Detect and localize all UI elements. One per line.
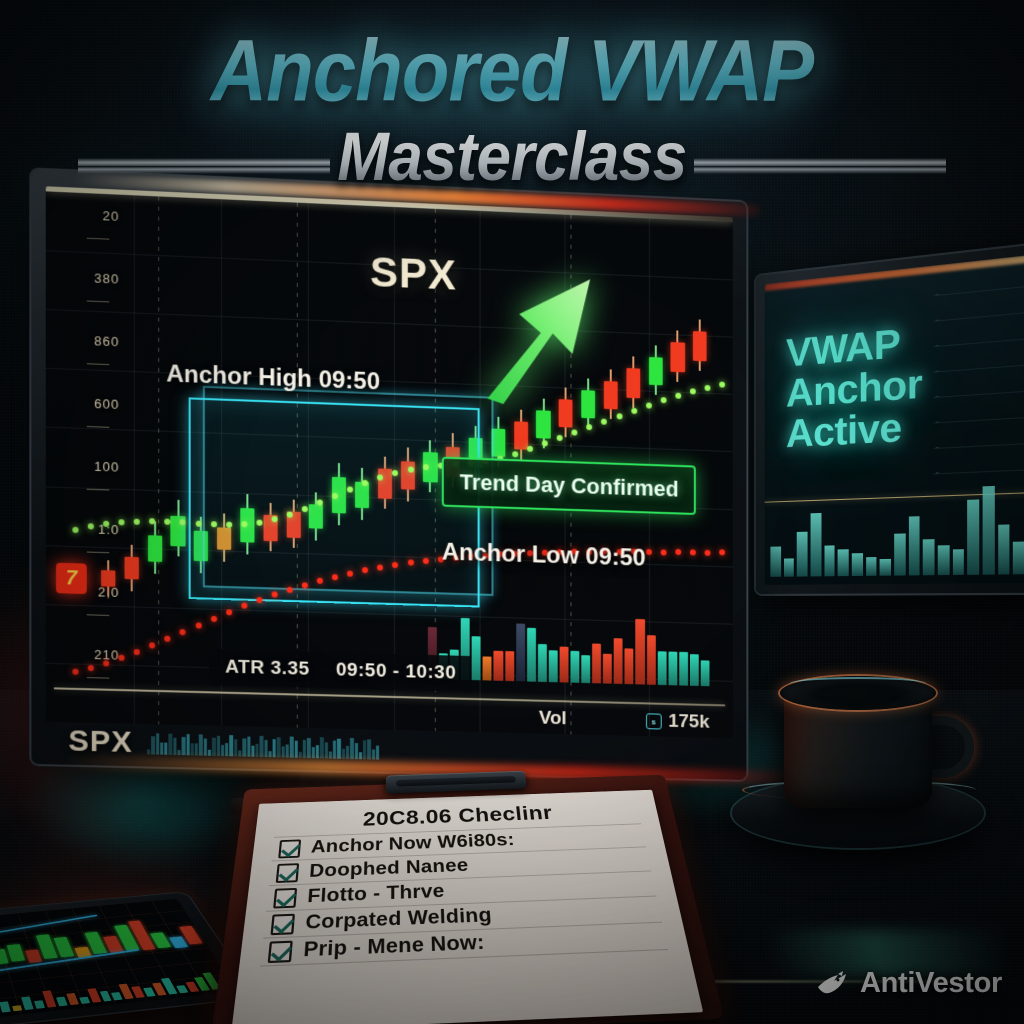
secondary-volume-bar [852,553,863,576]
secondary-axis-tick: -- [936,393,940,400]
candle-body [536,410,550,438]
sparkline-bar [212,738,215,756]
secondary-volume-bar [908,516,919,575]
secondary-axis-tick: -- [936,292,940,299]
volume-bar [516,623,525,681]
session-range: 09:50 - 10:30 [336,659,456,684]
sparkline-bar [204,738,207,755]
vwap-point [527,446,533,452]
volume-bar [483,656,492,680]
candle-body [604,381,618,409]
vwap-anchor-status-headline: VWAP Anchor Active [786,322,922,455]
checkbox-checked-icon[interactable] [273,888,297,909]
sparkline-bar [277,737,280,757]
sparkline-bar [160,743,163,755]
volume-bar [690,654,699,686]
tablet-volume-bar [99,991,112,1002]
primary-monitor-screen[interactable]: 203808606001001:02,0210 SPX [46,186,733,738]
checkbox-checked-icon[interactable] [268,941,293,963]
tablet-volume-bar [21,996,33,1010]
secondary-volume-bar [811,513,822,576]
status-line-3: Active [786,406,922,455]
sparkline-bar [225,744,228,757]
secondary-volume-bar [982,486,994,575]
secondary-volume-bar [938,545,950,575]
candlestick [148,196,162,724]
sparkline-bar [299,751,302,757]
sparkline-bar [182,737,185,755]
secondary-gridline [933,415,1024,423]
sparkline-bar [337,739,340,759]
sparkline-bar [268,751,271,757]
volume-readout: s 175k [646,710,710,733]
tablet-candle [0,949,8,965]
candlestick [101,194,115,723]
secondary-axis-tick: -- [936,419,940,426]
sparkline-bar [156,734,159,755]
vwap-point [719,382,725,388]
checkbox-checked-icon[interactable] [276,863,299,883]
coffee-mug [768,660,948,840]
sparkline-bar [290,737,293,758]
sparkline-bar [256,744,259,757]
volume-label: Vol [539,708,567,731]
anchor-low-point [211,616,217,622]
sparkline-bar [186,735,189,756]
volume-bar [625,648,634,684]
secondary-volume-bars [770,479,1024,577]
volume-value: 175k [668,711,709,734]
volume-bar [592,644,601,684]
secondary-volume-bar [894,533,905,575]
candle-body [101,570,115,587]
sparkline-bar [191,744,194,756]
sparkline-bar [234,739,237,756]
secondary-volume-bar [797,532,808,577]
tablet-volume-bar [0,1001,11,1012]
sparkline-bar [342,748,345,758]
volume-bar [679,652,688,686]
secondary-gridline [933,389,1024,398]
anchor-low-point [88,665,94,671]
volume-bar [560,647,569,683]
volume-chip-icon: s [646,713,662,729]
secondary-axis-tick: -- [936,342,940,349]
anchor-low-point [72,669,78,675]
sparkline-bar [316,745,319,758]
sparkline-bar [294,741,297,758]
secondary-gridline [933,283,1024,296]
sparkline-bar [260,736,263,757]
sparkline-bar [251,746,254,757]
secondary-axis-tick: -- [936,368,940,375]
secondary-gridline [933,336,1024,347]
checklist-paper[interactable]: 20C8.06 Checlinr Anchor Now W6i80s:Dooph… [231,790,703,1024]
secondary-volume-bar [998,524,1010,574]
secondary-axis-tick: -- [936,317,940,324]
volume-bar [636,619,645,685]
candle-body [671,342,685,372]
sparkline-bar [208,750,211,756]
secondary-axis-tick: -- [936,444,940,451]
status-bar-sparkline [147,732,379,760]
bird-mark-icon [816,971,850,997]
sparkline-bar [264,740,267,757]
sparkline-bar [350,738,353,759]
sparkline-bar [221,745,224,756]
secondary-gridline [933,468,1024,474]
tablet-candle [6,944,24,962]
sparkline-bar [273,739,276,757]
candle-body [124,557,138,580]
secondary-axis-tick: -- [936,470,940,477]
sparkline-bar [286,744,289,757]
sparkline-bar [346,745,349,759]
secondary-volume-bar [880,559,891,576]
secondary-chart-grid: ---------------- [933,283,1024,507]
sparkline-bar [355,743,358,759]
volume-bar [657,651,666,685]
sparkline-bar [147,749,150,754]
sparkline-bar [329,752,332,759]
sparkline-bar [243,738,246,756]
sparkline-bar [281,747,284,758]
volume-bar [549,650,558,682]
sparkline-bar [333,740,336,759]
secondary-monitor[interactable]: ---------------- VWAP Anchor Active [756,240,1024,594]
page-subtitle: Masterclass [323,118,701,196]
volume-bar [581,655,590,683]
checkbox-checked-icon[interactable] [278,839,301,858]
secondary-volume-bar [784,558,794,576]
sparkline-bar [238,751,241,757]
secondary-volume-bar [838,549,849,576]
sparkline-bar [303,740,306,758]
sparkline-bar [307,738,310,758]
sparkline-bar [376,746,379,760]
secondary-volume-bar [923,539,934,575]
price-marker-badge: 7 [56,563,87,594]
sparkline-bar [363,741,366,760]
candle-body [626,368,640,398]
anchor-zone-box[interactable] [189,397,480,607]
tablet-volume-bar [12,1005,22,1011]
sparkline-bar [320,737,323,758]
price-chart-plot[interactable]: 203808606001001:02,0210 SPX [46,191,733,738]
secondary-gridline [933,309,1024,321]
candlestick [124,195,138,724]
volume-bar [647,635,656,685]
sparkline-bar [247,736,250,757]
secondary-gridline [933,362,1024,372]
volume-bar [527,628,536,682]
tablet-candle [54,937,75,957]
sparkline-bar [177,750,180,755]
secondary-volume-bar [952,549,964,575]
uptrend-arrow-icon [480,269,598,408]
chart-info-strip: ATR 3.35 09:50 - 10:30 [209,649,472,692]
primary-monitor[interactable]: 203808606001001:02,0210 SPX [31,169,746,780]
sparkline-bar [195,743,198,755]
tablet-volume-bar [176,985,188,993]
status-line-2: Anchor [786,364,922,415]
checklist-item-label: Flotto - Thrve [307,881,445,908]
checklist-item-label: Prip - Mene Now: [303,932,486,963]
volume-bar [570,651,579,683]
title-rule-right [694,158,946,174]
page-subtitle-row: Masterclass [0,122,1024,200]
tablet-volume-bar [111,992,123,1000]
checkbox-checked-icon[interactable] [270,914,295,936]
candle-body [693,331,707,361]
volume-bar [614,638,623,684]
sparkline-bar [359,752,362,759]
title-rule-left [78,158,330,174]
mug-rim [780,676,936,710]
secondary-gridline [933,442,1024,449]
tablet-volume-bar [66,993,79,1005]
sparkline-bar [324,742,327,759]
brand-name: AntiVestor [860,967,1002,1000]
page-title-block: Anchored VWAP Masterclass [0,8,1024,200]
sparkline-bar [217,735,220,756]
anchor-low-point [719,549,725,555]
candle-body [649,357,663,385]
tablet-candle [25,949,42,962]
checklist-clipboard[interactable]: 20C8.06 Checlinr Anchor Now W6i80s:Dooph… [210,775,724,1024]
candlestick [171,197,185,725]
candle-body [148,535,162,562]
volume-bar [668,652,677,686]
volume-bar [505,651,514,681]
sparkline-bar [367,739,370,759]
candle-body [514,421,528,449]
volume-bar [472,636,481,680]
secondary-volume-bar [866,557,877,576]
volume-bar [603,654,612,684]
sparkline-bar [230,735,233,756]
secondary-volume-bar [1013,542,1024,575]
tablet-volume-bar [34,1000,45,1009]
sparkline-bar [372,749,375,759]
secondary-volume-bar [770,546,780,576]
checklist-items[interactable]: Anchor Now W6i80s:Doophed NaneeFlotto - … [260,824,668,966]
trend-day-confirmed-badge: Trend Day Confirmed [442,457,696,515]
secondary-volume-bar [967,499,979,574]
volume-bar [701,660,710,686]
volume-bar [538,644,547,682]
sparkline-bar [199,735,202,756]
sparkline-bar [169,734,172,755]
tablet-volume-bar [79,997,90,1004]
atr-value: ATR 3.35 [225,656,310,680]
brand-logo[interactable]: AntiVestor [816,967,1002,1000]
sparkline-bar [173,737,176,755]
sparkline-bar [151,737,154,755]
sparkline-bar [164,743,167,755]
volume-bar [494,651,503,681]
secondary-volume-bar [824,545,835,576]
page-title: Anchored VWAP [0,2,1024,114]
candle-body [171,516,185,547]
secondary-monitor-screen[interactable]: ---------------- VWAP Anchor Active [765,251,1024,585]
scene-root: Anchored VWAP Masterclass --------------… [0,0,1024,1024]
sparkline-bar [312,747,315,758]
tablet-volume-bar [56,997,68,1007]
